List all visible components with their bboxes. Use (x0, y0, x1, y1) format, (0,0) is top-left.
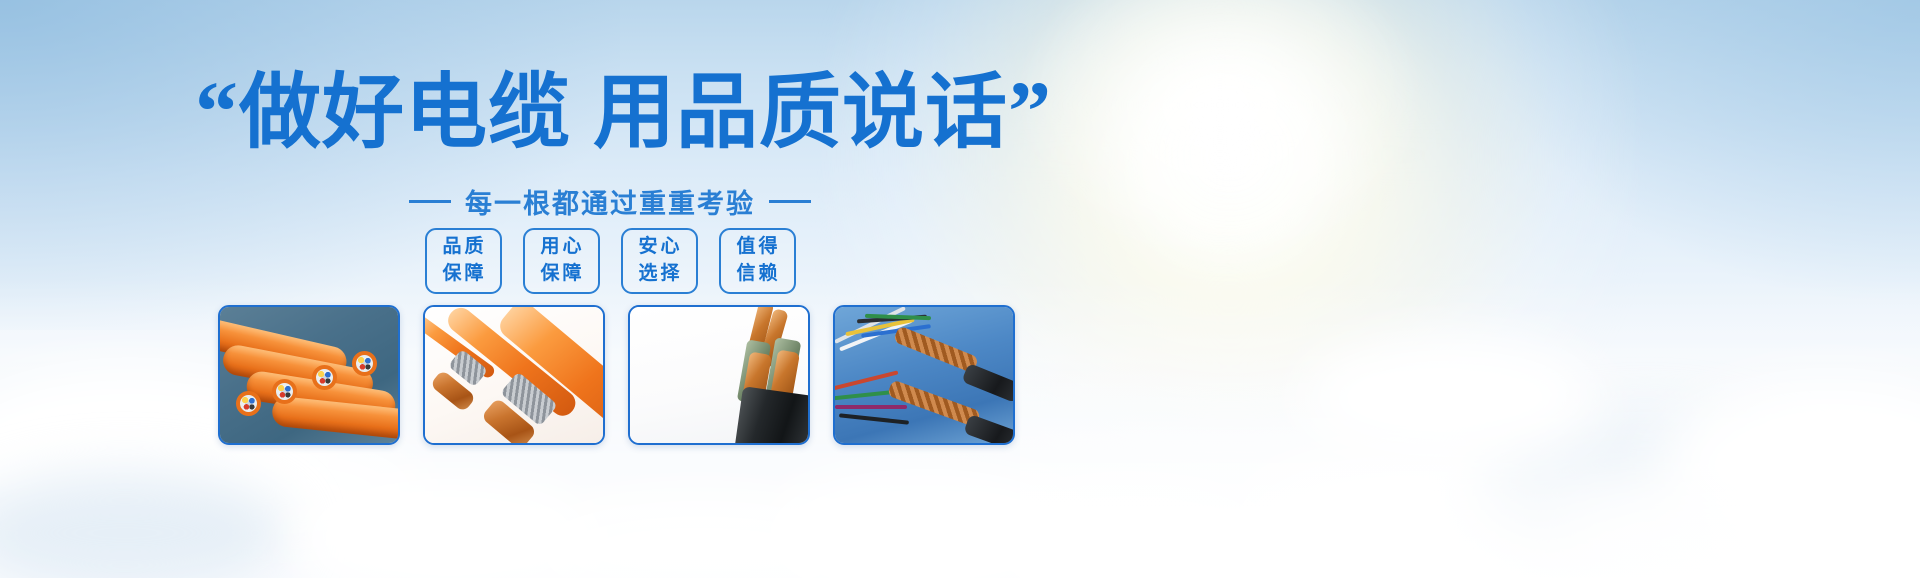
banner-headline: “做好电缆用品质说话” (195, 68, 1025, 154)
headline-part-1: 做好电缆 (239, 67, 571, 158)
banner-subtitle-row: 每一根都通过重重考验 (195, 182, 1025, 221)
badge-worry-free-choice: 安心 选择 (621, 228, 698, 294)
product-thumbnail-orange-multicore[interactable] (218, 305, 400, 445)
badge-3-line-1: 安心 (635, 234, 682, 261)
product-thumbnail-shielded-control-cable[interactable] (833, 305, 1015, 445)
badge-4-line-1: 值得 (733, 234, 780, 261)
badge-1-line-1: 品质 (439, 234, 486, 261)
badge-quality-assurance: 品质 保障 (425, 228, 502, 294)
badge-trustworthy: 值得 信赖 (719, 228, 796, 294)
thumb-2-image (425, 307, 603, 443)
badge-4-line-2: 信赖 (733, 261, 780, 288)
podium-base-mist (1020, 348, 1920, 578)
badge-3-line-2: 选择 (635, 261, 682, 288)
badge-2-line-2: 保障 (537, 261, 584, 288)
banner-copy: “做好电缆用品质说话” 每一根都通过重重考验 品质 保障 用心 保障 安心 选择… (0, 0, 1080, 578)
product-thumbnail-armoured-power-cable[interactable] (628, 305, 810, 445)
product-thumbnail-copper-conductor[interactable] (423, 305, 605, 445)
badge-2-line-1: 用心 (537, 234, 584, 261)
thumb-4-image (835, 307, 1013, 443)
headline-close-quote: ” (1008, 63, 1052, 159)
trust-badge-group: 品质 保障 用心 保障 安心 选择 值得 信赖 (195, 228, 1025, 294)
headline-open-quote: “ (195, 63, 239, 159)
headline-part-2: 用品质说话 (593, 67, 1008, 158)
subtitle-rule-left (409, 200, 451, 203)
badge-1-line-2: 保障 (439, 261, 486, 288)
thumb-3-image (630, 307, 808, 443)
banner-subtitle: 每一根都通过重重考验 (465, 182, 755, 221)
subtitle-rule-right (769, 200, 811, 203)
hero-banner: 2 3 1 “做好电缆用品质说话” (0, 0, 1920, 578)
thumb-1-image (220, 307, 398, 443)
product-thumbnail-strip (218, 305, 1015, 445)
badge-attentive-assurance: 用心 保障 (523, 228, 600, 294)
